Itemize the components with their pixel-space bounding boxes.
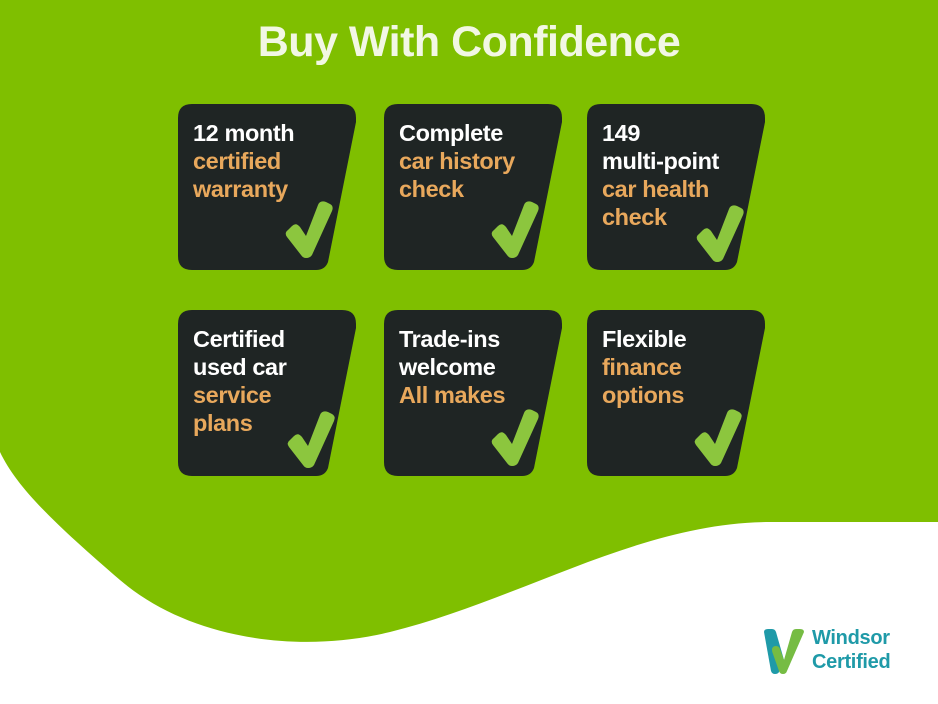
page-title: Buy With Confidence xyxy=(0,18,938,67)
feature-card-12-month-certified-warranty[interactable]: 12 month certified warranty xyxy=(178,104,356,270)
card-text-block: 12 month certified warranty xyxy=(193,119,343,203)
card-line: Complete xyxy=(399,119,549,147)
check-icon xyxy=(693,204,745,262)
check-icon xyxy=(488,408,540,466)
windsor-w-mark-icon xyxy=(760,628,808,674)
feature-card-complete-car-history-check[interactable]: Complete car history check xyxy=(384,104,562,270)
check-icon xyxy=(282,200,334,258)
card-line: used car xyxy=(193,353,343,381)
card-line: All makes xyxy=(399,381,549,409)
card-text-block: Trade-ins welcome All makes xyxy=(399,325,549,409)
card-line: options xyxy=(602,381,752,409)
check-icon xyxy=(488,200,540,258)
brand-name-line2: Certified xyxy=(812,650,890,674)
card-line: finance xyxy=(602,353,752,381)
feature-card-trade-ins-welcome-all-makes[interactable]: Trade-ins welcome All makes xyxy=(384,310,562,476)
feature-card-flexible-finance-options[interactable]: Flexible finance options xyxy=(587,310,765,476)
card-text-block: Flexible finance options xyxy=(602,325,752,409)
card-line: car history xyxy=(399,147,549,175)
brand-logo[interactable]: Windsor Certified xyxy=(760,626,930,678)
card-line: check xyxy=(399,175,549,203)
card-line: multi-point xyxy=(602,147,752,175)
card-line: car health xyxy=(602,175,752,203)
card-line: Trade-ins xyxy=(399,325,549,353)
card-line: service xyxy=(193,381,343,409)
feature-card-149-multi-point-car-health-check[interactable]: 149 multi-point car health check xyxy=(587,104,765,270)
card-line: 12 month xyxy=(193,119,343,147)
brand-logo-text: Windsor Certified xyxy=(812,626,890,674)
check-icon xyxy=(691,408,743,466)
card-line: 149 xyxy=(602,119,752,147)
brand-name-line1: Windsor xyxy=(812,626,890,650)
card-text-block: Complete car history check xyxy=(399,119,549,203)
poster-canvas: Buy With Confidence 12 month certified w… xyxy=(0,0,938,704)
card-line: welcome xyxy=(399,353,549,381)
card-line: warranty xyxy=(193,175,343,203)
card-line: Flexible xyxy=(602,325,752,353)
card-line: certified xyxy=(193,147,343,175)
check-icon xyxy=(284,410,336,468)
feature-card-certified-used-car-service-plans[interactable]: Certified used car service plans xyxy=(178,310,356,476)
card-line: Certified xyxy=(193,325,343,353)
